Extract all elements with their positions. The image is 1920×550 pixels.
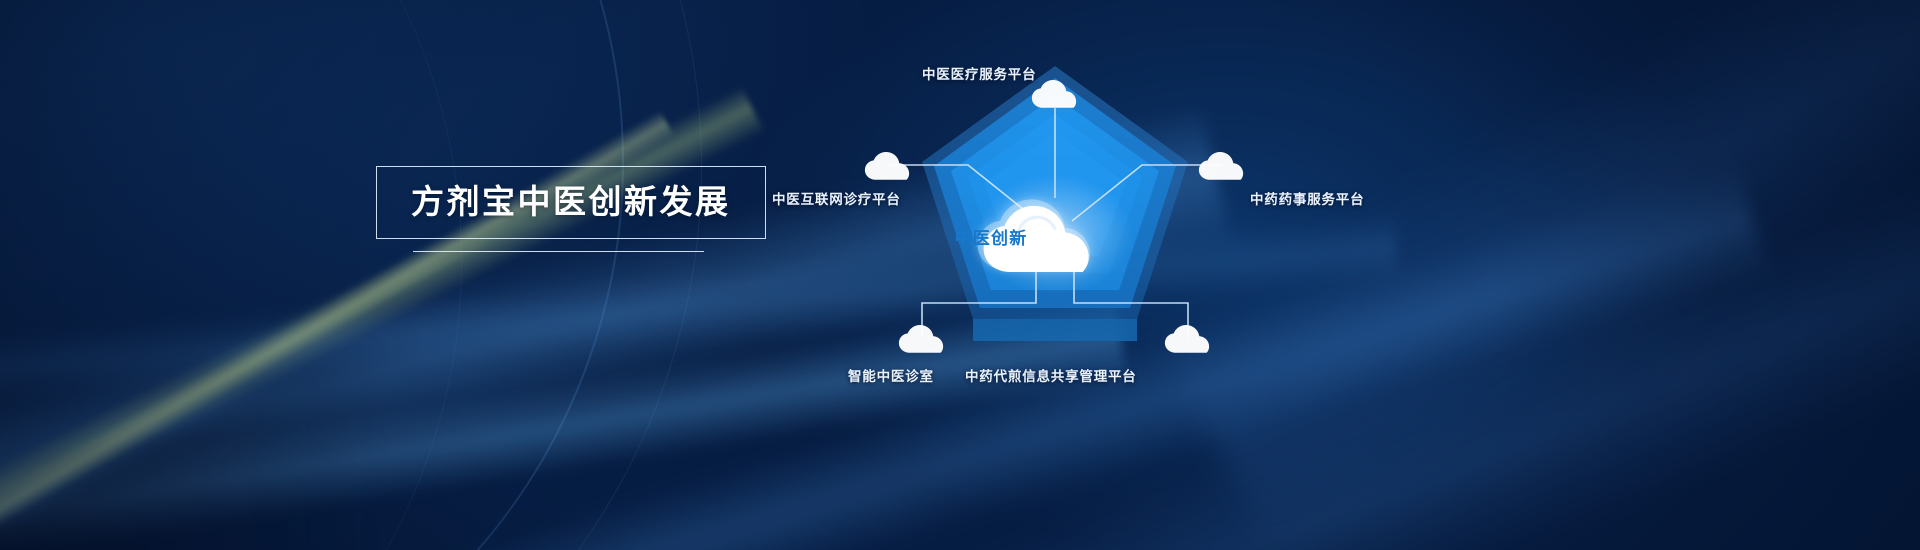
center-hub-label: 中医创新 (931, 224, 1051, 249)
node-cloud-lower-right (1165, 325, 1209, 353)
node-cloud-upper-right (1199, 152, 1243, 180)
hero-title-block: 方剂宝中医创新发展 (376, 166, 766, 239)
hero-title-underline (413, 251, 704, 252)
node-label-lower-left: 智能中医诊室 (848, 365, 934, 385)
page-title: 方剂宝中医创新发展 (411, 185, 731, 218)
node-label-top: 中医医疗服务平台 (922, 63, 1036, 83)
node-cloud-upper-left (865, 152, 909, 180)
node-label-upper-right: 中药药事服务平台 (1250, 188, 1364, 208)
platform-architecture-diagram: 中医医疗服务平台 中医互联网诊疗平台 中药药事服务平台 智能中医诊室 中药代煎信… (770, 38, 1390, 418)
hero-title-frame: 方剂宝中医创新发展 (376, 166, 766, 239)
node-label-lower-right: 中药代煎信息共享管理平台 (965, 365, 1137, 385)
node-cloud-lower-left (899, 325, 943, 353)
node-label-upper-left: 中医互联网诊疗平台 (772, 188, 901, 208)
hero-banner: 方剂宝中医创新发展 (0, 0, 1920, 550)
